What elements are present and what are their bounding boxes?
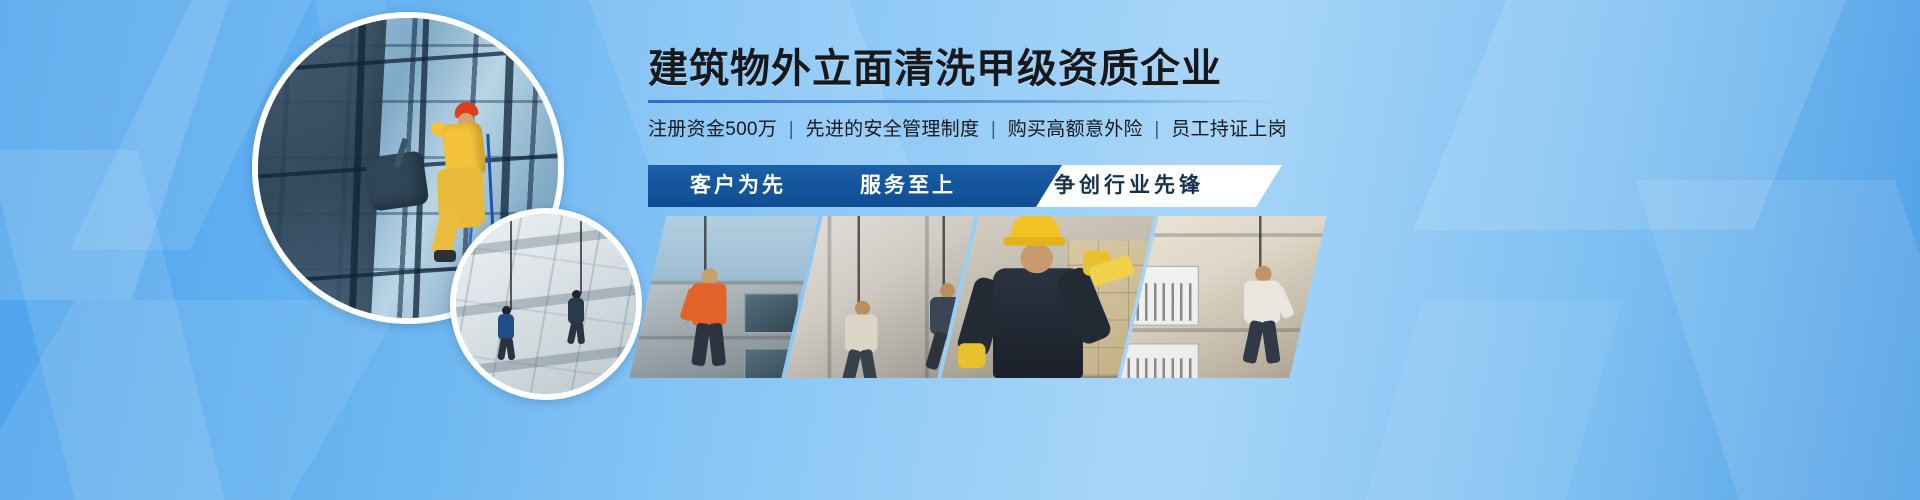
safety-rope (510, 214, 512, 310)
strip-photo-4-inner (1121, 216, 1326, 378)
wall-line (828, 216, 832, 378)
slogan-secondary: 服务至上 (860, 165, 956, 207)
subtitle-separator: | (1154, 119, 1159, 140)
helmet-brim (1003, 237, 1066, 246)
promo-banner: 建筑物外立面清洗甲级资质企业 注册资金500万 | 先进的安全管理制度 | 购买… (0, 0, 1920, 500)
subtitle: 注册资金500万 | 先进的安全管理制度 | 购买高额意外险 | 员工持证上岗 (648, 114, 1308, 141)
subtitle-separator: | (991, 119, 996, 140)
headline-block: 建筑物外立面清洗甲级资质企业 注册资金500万 | 先进的安全管理制度 | 购买… (648, 48, 1308, 141)
light-facade-photo (456, 214, 636, 394)
slogan-ribbon: 客户为先 服务至上 争创行业先锋 (648, 165, 1282, 207)
wall-line (1121, 328, 1326, 332)
worker-boot (434, 250, 456, 262)
bg-shape (0, 300, 405, 500)
worker-torso (498, 314, 514, 340)
strip-photo-4 (1121, 216, 1326, 378)
safety-rope (580, 214, 582, 294)
strip-photo-3-inner (941, 216, 1154, 378)
slogan-highlight: 争创行业先锋 (1054, 165, 1204, 207)
safety-rope (1259, 216, 1262, 273)
subtitle-part: 先进的安全管理制度 (806, 119, 980, 140)
safety-rope (858, 216, 861, 306)
strip-photo-3 (941, 216, 1154, 378)
subtitle-part: 购买高额意外险 (1008, 119, 1143, 140)
worker-head (702, 268, 718, 284)
wall-line (1121, 233, 1326, 237)
photo-strip (648, 216, 1308, 378)
subtitle-part: 注册资金500万 (648, 119, 777, 140)
worker-torso (568, 298, 584, 324)
worker-head (1255, 266, 1271, 282)
slogan-primary: 客户为先 (690, 165, 786, 207)
worker-torso (845, 315, 878, 353)
safety-rope (704, 216, 707, 276)
circle-photo-small (450, 208, 642, 400)
window (744, 293, 799, 333)
title-divider (648, 100, 1282, 103)
bg-shape (1337, 300, 1623, 500)
safety-rope (943, 216, 946, 288)
subtitle-separator: | (789, 119, 794, 140)
page-title: 建筑物外立面清洗甲级资质企业 (648, 48, 1308, 91)
bg-shape (1635, 180, 1920, 500)
worker-head (855, 301, 870, 316)
worker-head (940, 283, 955, 298)
sky (629, 216, 818, 281)
work-glove (958, 343, 986, 368)
subtitle-part: 员工持证上岗 (1171, 119, 1287, 140)
wall-line (629, 336, 818, 340)
balcony-railing (1121, 358, 1196, 378)
worker-head (1021, 243, 1054, 273)
